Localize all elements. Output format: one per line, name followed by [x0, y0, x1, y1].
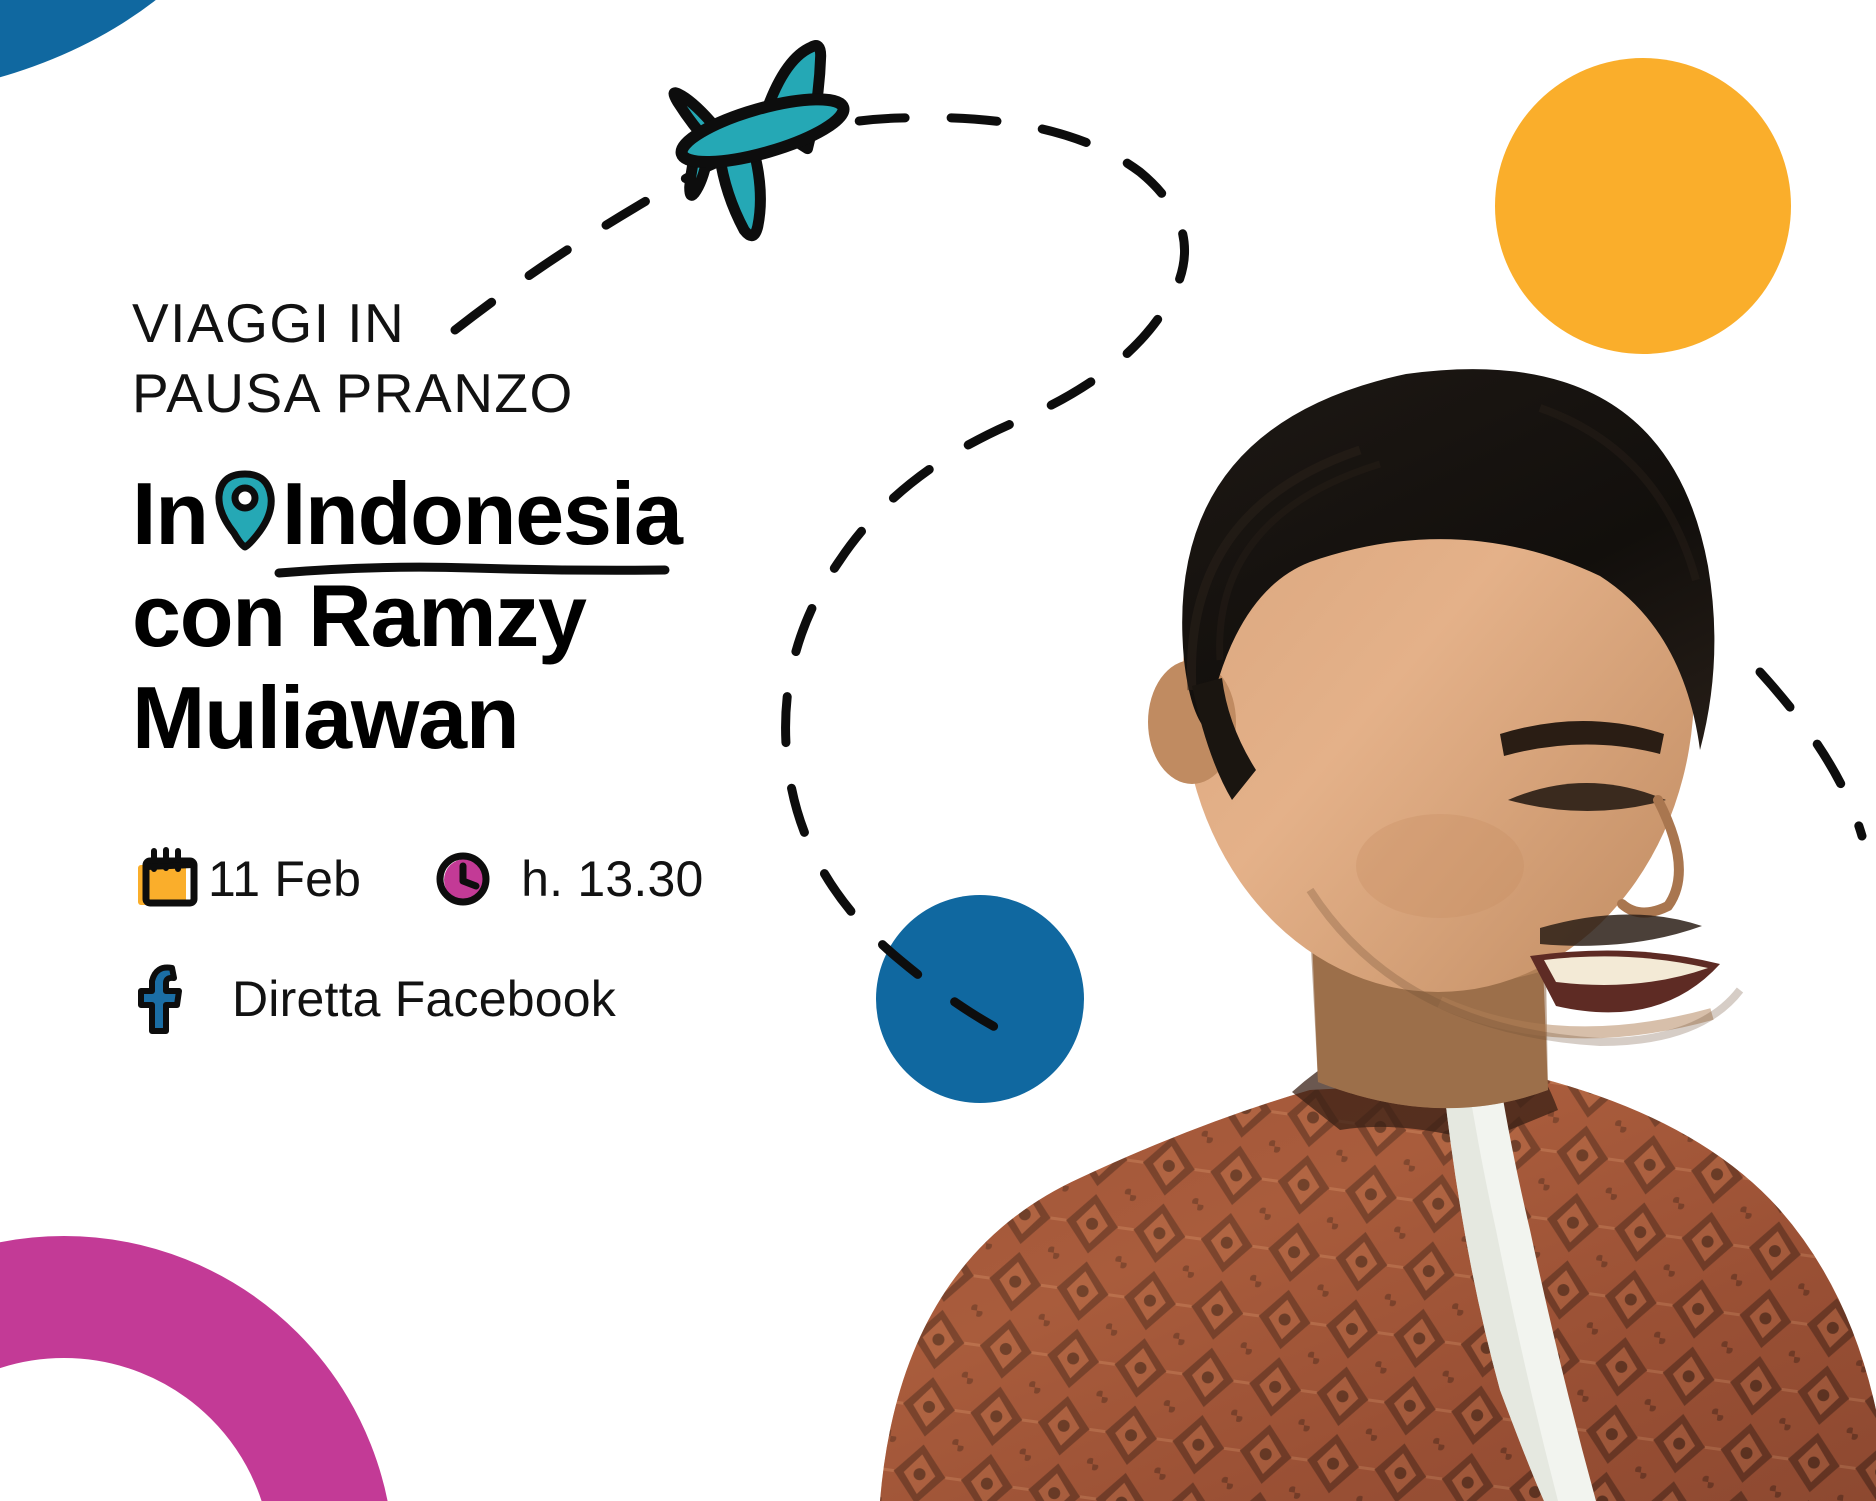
- date-item: 11 Feb: [132, 843, 361, 915]
- time-item: h. 13.30: [433, 848, 703, 910]
- dashed-flight-path-tail-icon: [1760, 672, 1862, 836]
- text-content: VIAGGI IN PAUSA PRANZO In Indonesia: [132, 288, 832, 1035]
- map-pin-icon: [208, 467, 282, 553]
- headline-line-1: In Indonesia: [132, 463, 832, 565]
- headline-line-2: con Ramzy: [132, 565, 832, 667]
- facebook-label: Diretta Facebook: [232, 970, 616, 1028]
- channel-row: Diretta Facebook: [132, 963, 832, 1035]
- page-title: In Indonesia con Ramzy Muliawan: [132, 463, 832, 769]
- airplane-icon: [666, 43, 862, 245]
- headline-highlight-text: Indonesia: [282, 464, 682, 563]
- headline-prefix: In: [132, 463, 208, 565]
- facebook-item[interactable]: Diretta Facebook: [132, 963, 616, 1035]
- headline-line-3: Muliawan: [132, 667, 832, 769]
- date-label: 11 Feb: [208, 850, 361, 908]
- datetime-row: 11 Feb h. 13.30: [132, 843, 832, 915]
- hand-drawn-underline-icon: [276, 563, 668, 579]
- calendar-icon: [132, 843, 204, 915]
- time-label: h. 13.30: [521, 850, 703, 908]
- event-details: 11 Feb h. 13.30: [132, 843, 832, 1035]
- headline-highlight: Indonesia: [282, 463, 682, 565]
- eyebrow-text: VIAGGI IN PAUSA PRANZO: [132, 288, 832, 429]
- facebook-icon[interactable]: [132, 963, 190, 1035]
- poster-canvas: VIAGGI IN PAUSA PRANZO In Indonesia: [0, 0, 1876, 1501]
- clock-icon: [433, 848, 495, 910]
